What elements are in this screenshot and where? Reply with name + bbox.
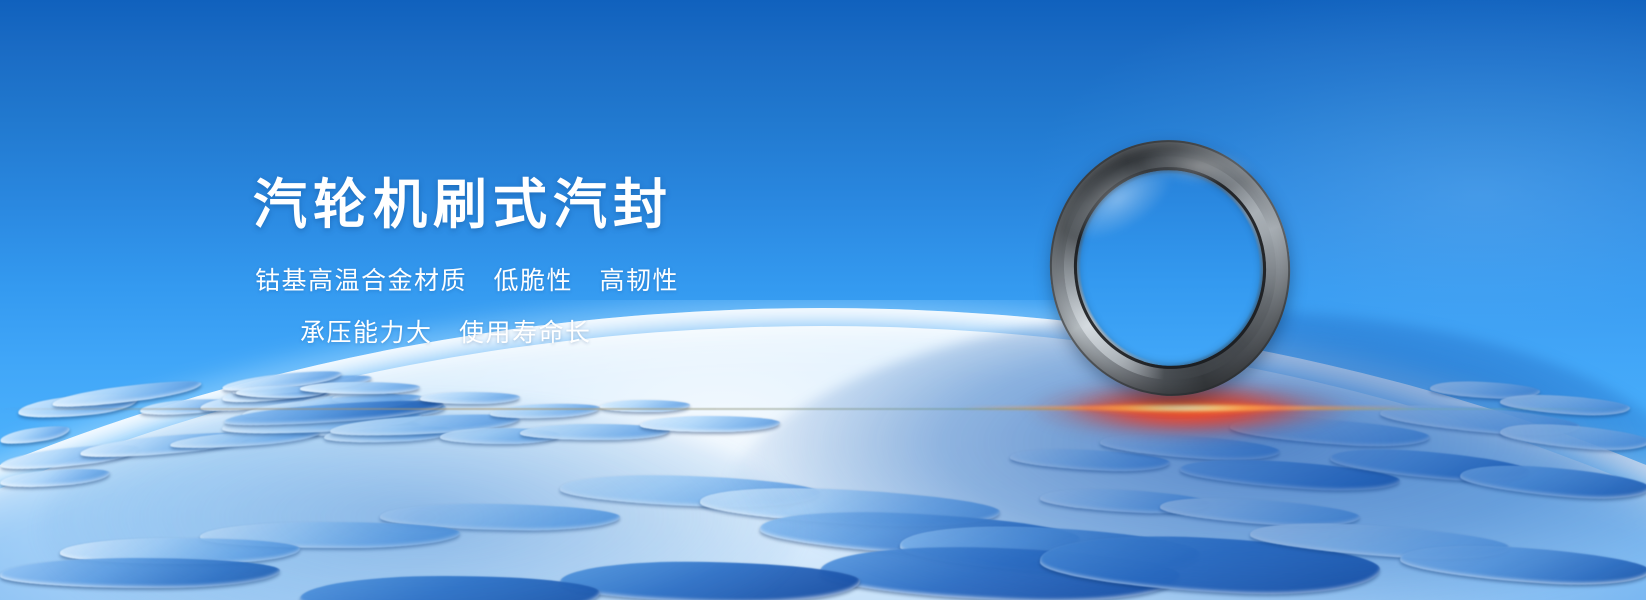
globe-graphic bbox=[0, 300, 1646, 600]
hero-banner: 汽轮机刷式汽封 钴基高温合金材质 低脆性 高韧性 承压能力大 使用寿命长 bbox=[0, 0, 1646, 600]
metal-seal-ring-icon bbox=[1035, 126, 1304, 409]
